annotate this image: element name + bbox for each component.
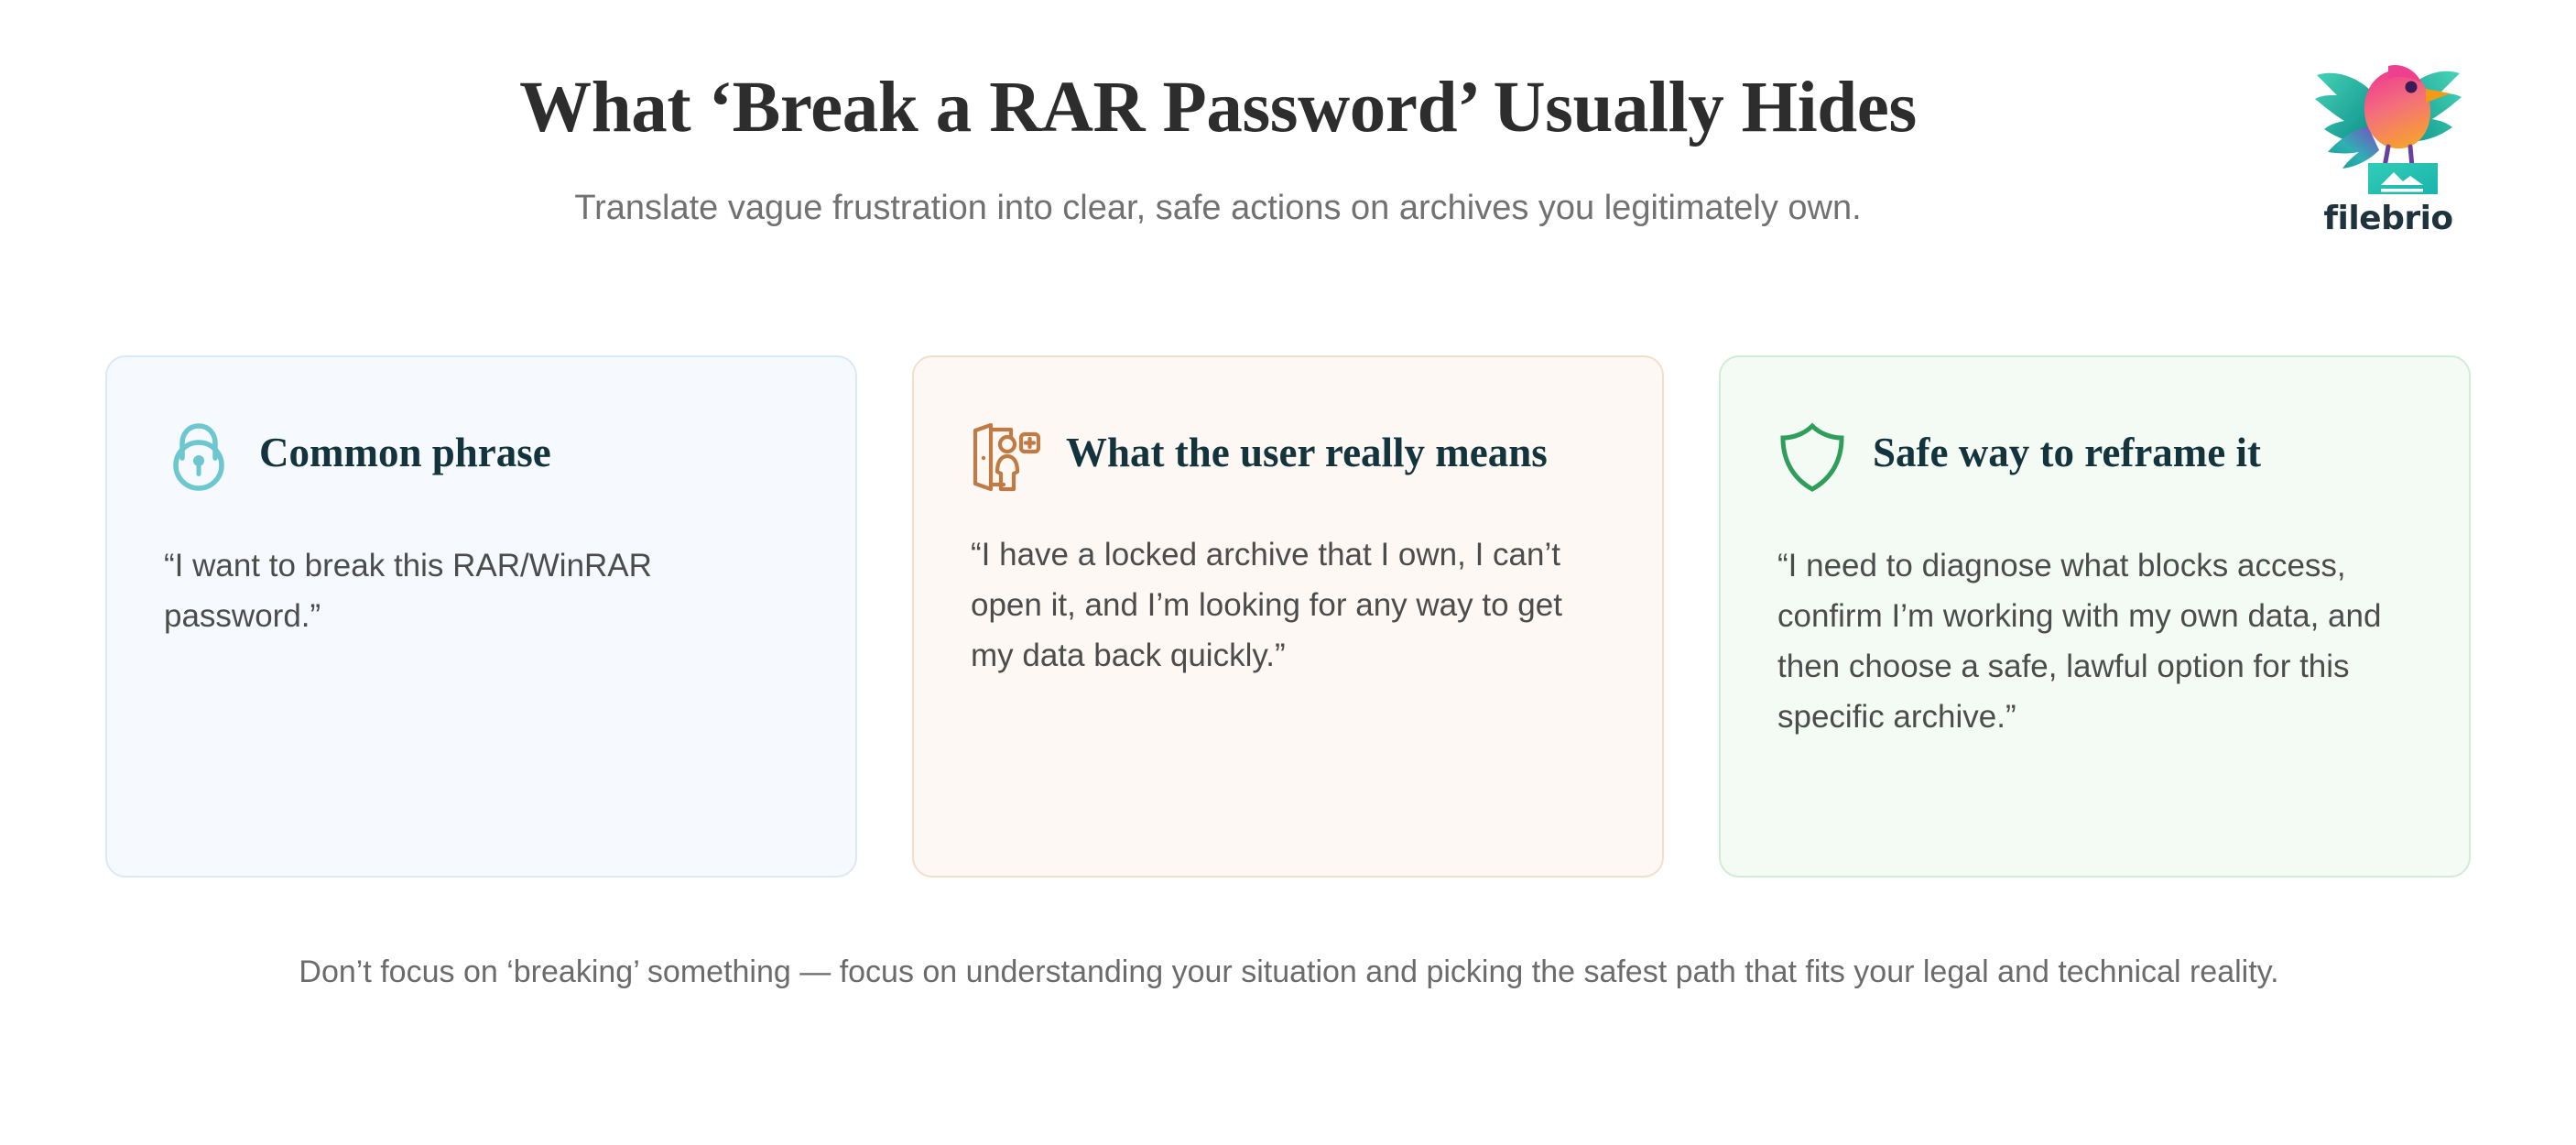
card-header: Safe way to reframe it bbox=[1777, 418, 2412, 517]
shield-icon bbox=[1777, 420, 1847, 495]
door-person-access-icon bbox=[971, 420, 1040, 495]
card-header: Common phrase bbox=[164, 418, 799, 517]
card-header: What the user really means bbox=[971, 418, 1605, 517]
footer-note: Don’t focus on ‘breaking’ something — fo… bbox=[165, 951, 2413, 993]
card-title: What the user really means bbox=[1066, 418, 1548, 480]
bird-on-document-icon bbox=[2304, 38, 2473, 196]
card-what-the-user-really-means: What the user really means “I have a loc… bbox=[912, 355, 1664, 878]
page-title: What ‘Break a RAR Password’ Usually Hide… bbox=[165, 66, 2271, 150]
brand-logo: filebrio bbox=[2297, 38, 2480, 240]
page-subtitle: Translate vague frustration into clear, … bbox=[165, 186, 2271, 230]
padlock-icon bbox=[164, 420, 234, 495]
logo-wordmark: filebrio bbox=[2297, 200, 2480, 237]
card-quote: “I need to diagnose what blocks access, … bbox=[1777, 540, 2412, 742]
card-row: Common phrase “I want to break this RAR/… bbox=[105, 355, 2473, 878]
header: What ‘Break a RAR Password’ Usually Hide… bbox=[0, 0, 2576, 302]
card-quote: “I want to break this RAR/WinRAR passwor… bbox=[164, 540, 799, 641]
card-title: Safe way to reframe it bbox=[1873, 418, 2261, 480]
card-safe-way-to-reframe-it: Safe way to reframe it “I need to diagno… bbox=[1719, 355, 2471, 878]
card-quote: “I have a locked archive that I own, I c… bbox=[971, 529, 1605, 681]
card-title: Common phrase bbox=[259, 418, 551, 480]
card-common-phrase: Common phrase “I want to break this RAR/… bbox=[105, 355, 857, 878]
infographic-root: What ‘Break a RAR Password’ Usually Hide… bbox=[0, 0, 2576, 1145]
